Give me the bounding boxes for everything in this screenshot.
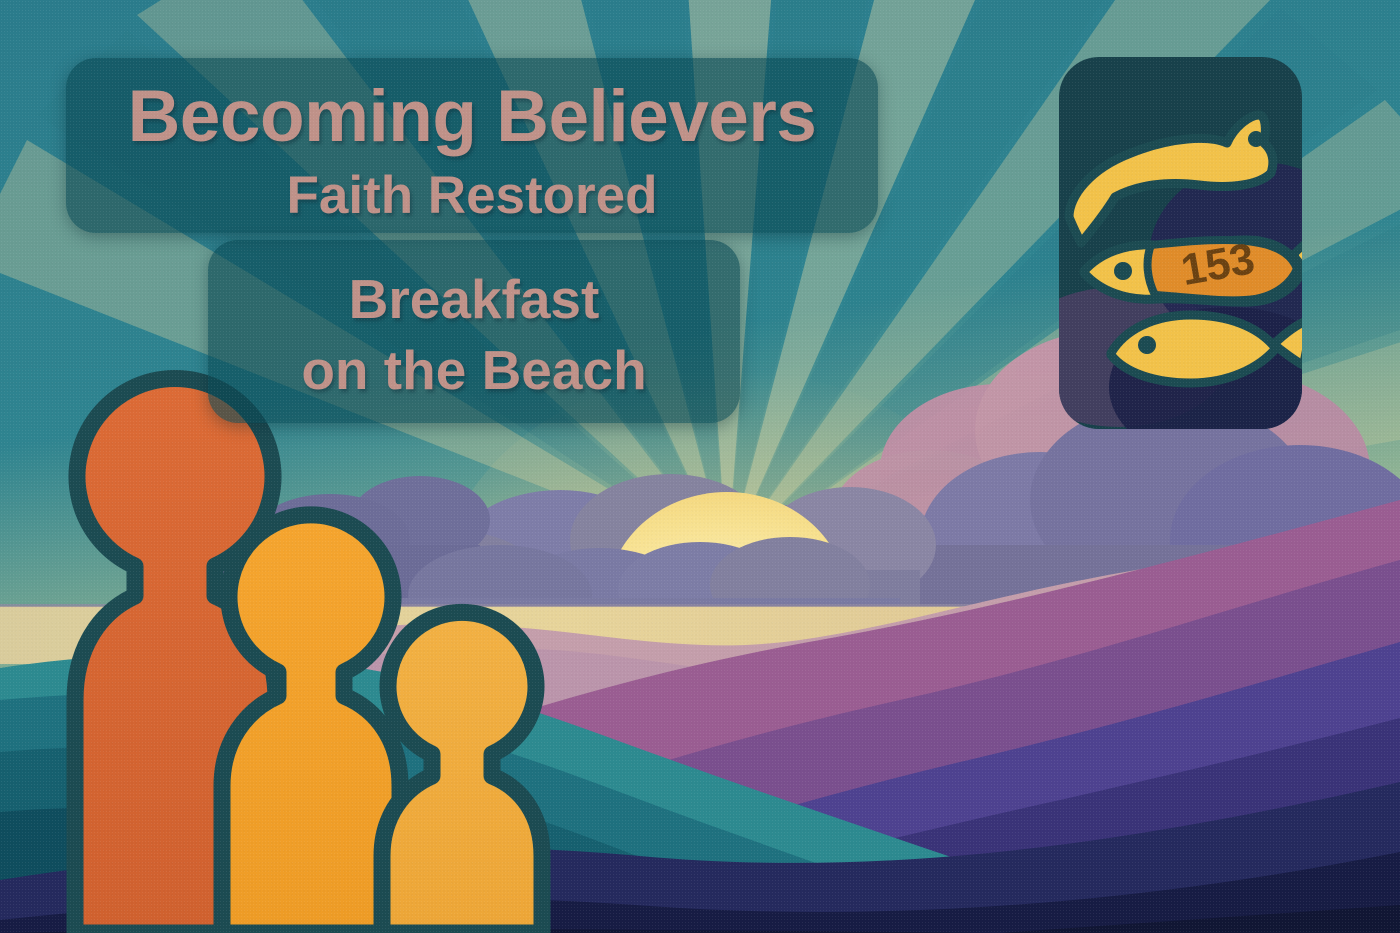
title-panel: Becoming Believers Faith Restored <box>66 58 878 233</box>
page-title: Becoming Believers <box>66 80 878 153</box>
fish-badge[interactable]: 153 <box>1059 57 1302 429</box>
poster-canvas: Becoming Believers Faith Restored Breakf… <box>0 0 1400 933</box>
subtitle-line-two: on the Beach <box>208 343 740 398</box>
page-subtitle: Faith Restored <box>66 169 878 222</box>
subtitle-panel: Breakfast on the Beach <box>208 240 740 423</box>
subtitle-line-one: Breakfast <box>208 272 740 327</box>
fish-badge-graphic: 153 <box>1059 57 1302 429</box>
figure-middle <box>222 515 400 933</box>
